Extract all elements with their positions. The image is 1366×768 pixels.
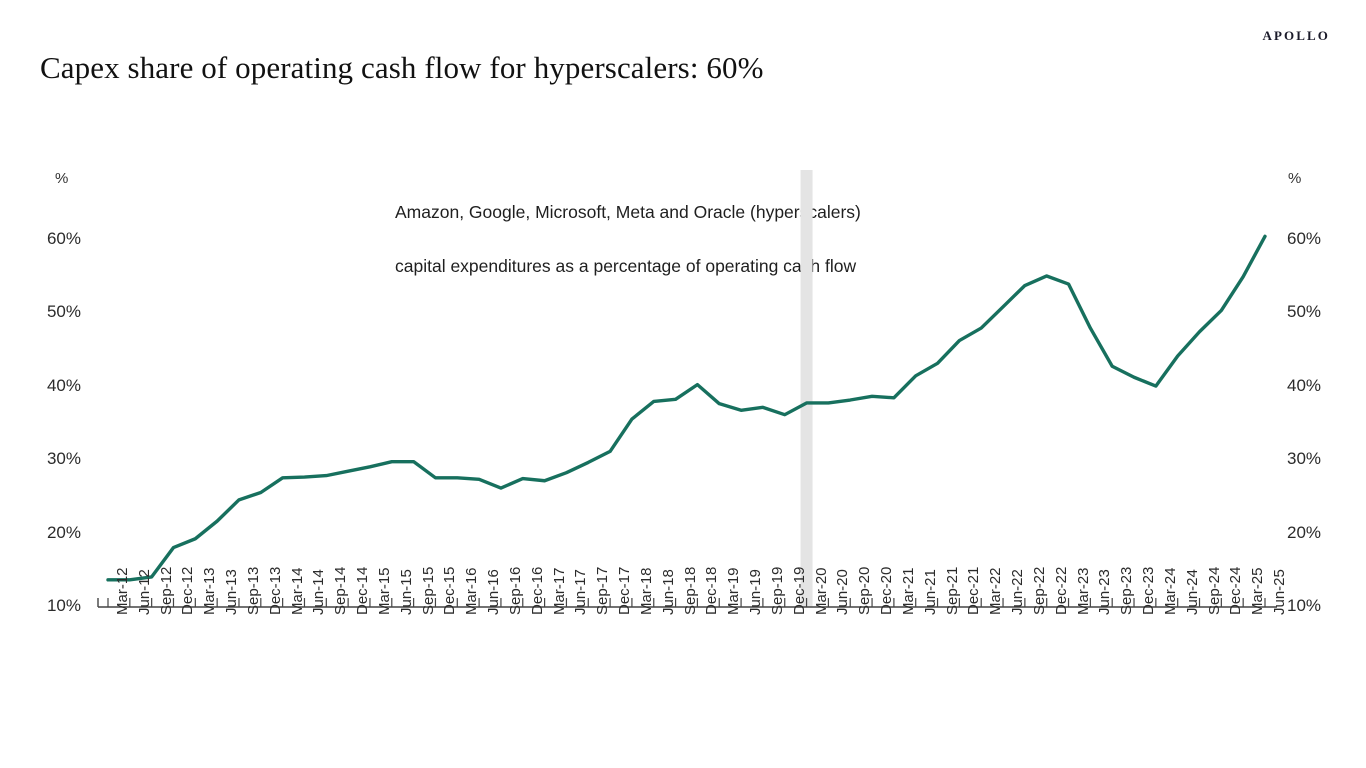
x-axis-tick-label: Sep-20 [856, 567, 873, 615]
x-axis-tick-label: Jun-21 [922, 569, 939, 615]
x-axis-tick-label: Sep-16 [507, 567, 524, 615]
x-axis-tick-label: Dec-14 [354, 567, 371, 615]
x-axis-tick-label: Mar-20 [813, 567, 830, 615]
y-axis-tick-label-right: 40% [1287, 376, 1321, 396]
x-axis-tick-label: Mar-14 [289, 567, 306, 615]
x-axis-tick-label: Jun-19 [747, 569, 764, 615]
y-axis-tick-label-left: 60% [47, 229, 81, 249]
x-axis-tick-label: Dec-17 [616, 567, 633, 615]
x-axis-tick-label: Jun-25 [1271, 569, 1288, 615]
x-axis-tick-label: Mar-25 [1249, 567, 1266, 615]
x-axis-tick-label: Sep-23 [1118, 567, 1135, 615]
line-chart [0, 0, 1366, 768]
y-axis-tick-label-left: 40% [47, 376, 81, 396]
y-axis-tick-label-right: 20% [1287, 523, 1321, 543]
x-axis-tick-label: Jun-16 [485, 569, 502, 615]
y-axis-tick-label-right: 30% [1287, 449, 1321, 469]
x-axis-tick-label: Dec-24 [1227, 567, 1244, 615]
chart-page: APOLLO Capex share of operating cash flo… [0, 0, 1366, 768]
y-axis-tick-label-left: 10% [47, 596, 81, 616]
y-axis-tick-label-left: 30% [47, 449, 81, 469]
x-axis-tick-label: Jun-12 [136, 569, 153, 615]
x-axis-tick-label: Mar-24 [1162, 567, 1179, 615]
x-axis-tick-label: Dec-20 [878, 567, 895, 615]
y-axis-tick-label-left: 20% [47, 523, 81, 543]
x-axis-tick-label: Mar-16 [463, 567, 480, 615]
x-axis-tick-label: Dec-12 [179, 567, 196, 615]
x-axis-tick-label: Jun-15 [398, 569, 415, 615]
x-axis-tick-label: Mar-21 [900, 567, 917, 615]
data-series-line [108, 236, 1265, 580]
x-axis-tick-label: Jun-24 [1184, 569, 1201, 615]
y-axis-tick-label-left: 50% [47, 302, 81, 322]
x-axis-tick-label: Mar-23 [1075, 567, 1092, 615]
x-axis-tick-label: Jun-13 [223, 569, 240, 615]
x-axis-tick-label: Sep-17 [594, 567, 611, 615]
x-axis-tick-label: Sep-13 [245, 567, 262, 615]
x-axis-tick-label: Sep-12 [158, 567, 175, 615]
x-axis-tick-label: Sep-21 [944, 567, 961, 615]
x-axis-tick-label: Mar-17 [551, 567, 568, 615]
x-axis-tick-label: Dec-16 [529, 567, 546, 615]
x-axis-tick-label: Dec-18 [703, 567, 720, 615]
x-axis-tick-label: Mar-19 [725, 567, 742, 615]
x-axis-tick-label: Sep-18 [682, 567, 699, 615]
x-axis-tick-label: Sep-15 [420, 567, 437, 615]
x-axis-tick-label: Dec-13 [267, 567, 284, 615]
y-axis-tick-label-right: 60% [1287, 229, 1321, 249]
x-axis-tick-label: Sep-19 [769, 567, 786, 615]
x-axis-tick-label: Mar-12 [114, 567, 131, 615]
x-axis-tick-label: Jun-23 [1096, 569, 1113, 615]
covid-band-marker [801, 170, 813, 607]
x-axis-tick-label: Mar-18 [638, 567, 655, 615]
x-axis-tick-label: Dec-23 [1140, 567, 1157, 615]
x-axis-tick-label: Jun-22 [1009, 569, 1026, 615]
x-axis-tick-label: Dec-19 [791, 567, 808, 615]
y-axis-tick-label-right: 10% [1287, 596, 1321, 616]
x-axis-tick-label: Sep-14 [332, 567, 349, 615]
x-axis-tick-label: Mar-22 [987, 567, 1004, 615]
x-axis-tick-label: Dec-22 [1053, 567, 1070, 615]
x-axis-tick-label: Sep-24 [1206, 567, 1223, 615]
x-axis-tick-label: Jun-17 [572, 569, 589, 615]
x-axis-tick-label: Dec-15 [441, 567, 458, 615]
x-axis-tick-label: Jun-14 [310, 569, 327, 615]
x-axis-tick-label: Jun-18 [660, 569, 677, 615]
x-axis-tick-label: Dec-21 [965, 567, 982, 615]
x-axis-tick-label: Mar-13 [201, 567, 218, 615]
x-axis-tick-label: Jun-20 [834, 569, 851, 615]
y-axis-tick-label-right: 50% [1287, 302, 1321, 322]
x-axis-tick-label: Mar-15 [376, 567, 393, 615]
x-axis-tick-label: Sep-22 [1031, 567, 1048, 615]
